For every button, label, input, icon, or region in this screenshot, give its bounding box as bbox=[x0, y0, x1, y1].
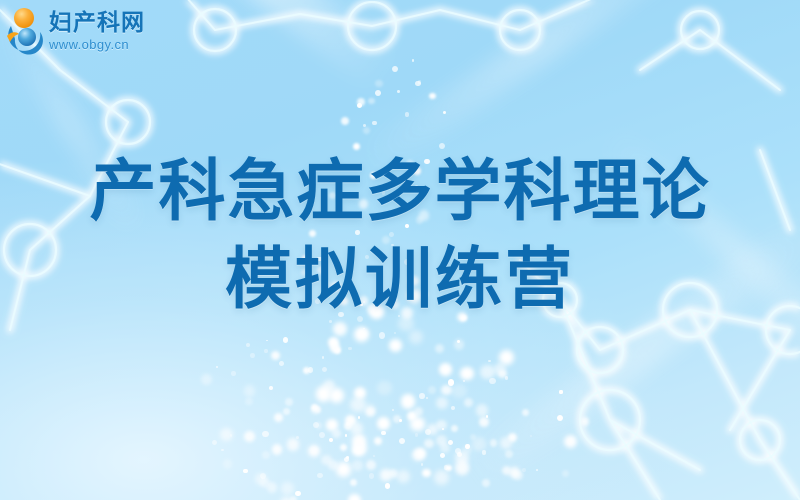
bokeh-dot bbox=[500, 437, 512, 449]
bokeh-dot bbox=[472, 437, 486, 451]
bokeh-dot bbox=[389, 469, 398, 478]
bokeh-dot bbox=[346, 422, 350, 426]
bokeh-dot bbox=[407, 411, 417, 421]
bokeh-dot bbox=[389, 339, 403, 353]
bokeh-dot bbox=[559, 390, 562, 393]
bokeh-dot bbox=[455, 451, 468, 464]
logo-wordmark: 妇产科网 www.obgy.cn bbox=[49, 11, 145, 51]
bokeh-dot bbox=[363, 124, 366, 127]
blue-sphere-icon bbox=[18, 28, 36, 46]
bokeh-dot bbox=[366, 407, 375, 416]
bokeh-dot bbox=[358, 328, 368, 338]
bokeh-dot bbox=[435, 344, 444, 353]
bokeh-dot bbox=[494, 363, 506, 375]
bokeh-dot bbox=[244, 385, 255, 396]
bokeh-dot bbox=[340, 444, 347, 451]
bokeh-dot bbox=[230, 434, 232, 436]
bokeh-dot bbox=[354, 387, 366, 399]
headline-line-1: 产科急症多学科理论 bbox=[0, 148, 800, 236]
bokeh-dot bbox=[508, 433, 517, 442]
bokeh-dot bbox=[397, 470, 410, 483]
bokeh-dot bbox=[440, 443, 450, 453]
light-streak bbox=[138, 0, 403, 93]
bokeh-dot bbox=[414, 407, 423, 416]
bokeh-dot bbox=[363, 127, 370, 134]
bokeh-dot bbox=[201, 374, 212, 385]
bokeh-dot bbox=[262, 431, 268, 437]
bokeh-dot bbox=[328, 460, 337, 469]
bokeh-dot bbox=[344, 457, 349, 462]
bokeh-dot bbox=[295, 491, 301, 497]
bokeh-dot bbox=[350, 397, 366, 413]
bokeh-dot bbox=[448, 379, 454, 385]
bokeh-dot bbox=[562, 470, 569, 477]
bokeh-dot bbox=[557, 415, 563, 421]
bokeh-dot bbox=[344, 422, 352, 430]
bokeh-dot bbox=[392, 409, 394, 411]
bokeh-dot bbox=[499, 350, 514, 365]
bokeh-dot bbox=[419, 393, 424, 398]
bokeh-dot bbox=[260, 473, 266, 479]
bokeh-dot bbox=[377, 417, 390, 430]
bokeh-dot bbox=[436, 397, 448, 409]
bokeh-dot bbox=[442, 428, 444, 430]
bokeh-dot bbox=[375, 80, 382, 87]
bokeh-dot bbox=[322, 367, 327, 372]
bokeh-dot bbox=[452, 384, 466, 398]
bokeh-dot bbox=[463, 445, 472, 454]
bokeh-dot bbox=[290, 496, 297, 500]
bokeh-dot bbox=[357, 98, 365, 106]
bokeh-dot bbox=[394, 332, 396, 334]
bokeh-dot bbox=[366, 460, 376, 470]
bokeh-dot bbox=[412, 449, 424, 461]
bokeh-dot bbox=[380, 469, 391, 480]
bokeh-dot bbox=[421, 463, 424, 466]
bokeh-dot bbox=[410, 417, 425, 432]
bokeh-dot bbox=[385, 483, 390, 488]
bokeh-dot bbox=[434, 470, 449, 485]
bokeh-dot bbox=[457, 463, 468, 474]
bokeh-dot bbox=[415, 81, 420, 86]
bokeh-dot bbox=[245, 398, 252, 405]
bokeh-dot bbox=[364, 404, 377, 417]
bokeh-dot bbox=[308, 445, 320, 457]
bokeh-dot bbox=[216, 366, 219, 369]
bokeh-dot bbox=[401, 394, 415, 408]
bokeh-dot bbox=[279, 361, 284, 366]
bokeh-dot bbox=[250, 353, 255, 358]
bokeh-dot bbox=[264, 349, 268, 353]
bokeh-dot bbox=[498, 370, 507, 379]
bokeh-dot bbox=[348, 347, 352, 351]
bokeh-dot bbox=[317, 473, 322, 478]
bokeh-dot bbox=[392, 66, 398, 72]
bokeh-dot bbox=[316, 386, 331, 401]
bokeh-dot bbox=[311, 406, 319, 414]
bokeh-dot bbox=[444, 465, 449, 470]
bokeh-dot bbox=[476, 404, 489, 417]
bokeh-dot bbox=[220, 428, 233, 441]
bokeh-dot bbox=[405, 112, 409, 116]
bokeh-dot bbox=[426, 397, 428, 399]
banner-headline: 产科急症多学科理论 模拟训练营 bbox=[0, 148, 800, 324]
bokeh-dot bbox=[509, 467, 521, 479]
bokeh-dot bbox=[308, 367, 313, 372]
bokeh-dot bbox=[221, 449, 224, 452]
bokeh-dot bbox=[272, 444, 282, 454]
bokeh-dot bbox=[345, 415, 356, 426]
bokeh-dot bbox=[441, 385, 451, 395]
bokeh-dot bbox=[440, 453, 445, 458]
bokeh-dot bbox=[313, 422, 319, 428]
bokeh-dot bbox=[311, 404, 318, 411]
bokeh-dot bbox=[480, 365, 494, 379]
bokeh-dot bbox=[502, 466, 511, 475]
bokeh-dot bbox=[372, 121, 377, 126]
logo-url: www.obgy.cn bbox=[49, 38, 145, 51]
bokeh-dot bbox=[460, 367, 473, 380]
bokeh-dot bbox=[283, 337, 289, 343]
bokeh-dot bbox=[358, 416, 361, 419]
bokeh-dot bbox=[231, 371, 236, 376]
bokeh-dot bbox=[379, 332, 385, 338]
bokeh-dot bbox=[281, 482, 294, 495]
bokeh-dot bbox=[260, 478, 270, 488]
logo-site-name: 妇产科网 bbox=[49, 11, 145, 34]
bokeh-dot bbox=[354, 442, 367, 455]
bokeh-dot bbox=[425, 429, 431, 435]
bokeh-dot bbox=[373, 455, 375, 457]
bokeh-dot bbox=[334, 347, 341, 354]
bokeh-dot bbox=[451, 406, 455, 410]
bokeh-dot bbox=[393, 415, 401, 423]
bokeh-dot bbox=[455, 460, 469, 474]
bokeh-dot bbox=[267, 482, 278, 493]
bokeh-dot bbox=[329, 438, 333, 442]
bokeh-dot bbox=[368, 98, 375, 105]
bokeh-dot bbox=[255, 473, 267, 485]
bokeh-dot bbox=[285, 398, 293, 406]
orange-sphere-icon bbox=[14, 8, 34, 28]
bokeh-dot bbox=[505, 376, 508, 379]
bokeh-dot bbox=[381, 431, 385, 435]
bokeh-dot bbox=[463, 380, 465, 382]
bokeh-dot bbox=[412, 59, 415, 62]
bokeh-dot bbox=[479, 417, 489, 427]
bokeh-dot bbox=[536, 469, 538, 471]
headline-line-2: 模拟训练营 bbox=[0, 236, 800, 324]
bokeh-dot bbox=[482, 450, 487, 455]
bokeh-dot bbox=[336, 462, 351, 477]
bokeh-dot bbox=[464, 398, 473, 407]
bokeh-dot bbox=[354, 327, 369, 342]
bokeh-dot bbox=[328, 337, 339, 348]
bokeh-dot bbox=[448, 440, 453, 445]
bokeh-dot bbox=[457, 452, 462, 457]
bokeh-dot bbox=[455, 448, 461, 454]
bokeh-dot bbox=[303, 367, 310, 374]
bokeh-dot bbox=[375, 90, 381, 96]
bokeh-dot bbox=[269, 386, 273, 390]
bokeh-dot bbox=[350, 422, 363, 435]
bokeh-dot bbox=[409, 330, 424, 345]
bokeh-dot bbox=[457, 340, 460, 343]
bokeh-dot bbox=[212, 440, 217, 445]
bokeh-dot bbox=[522, 409, 529, 416]
bokeh-dot bbox=[310, 446, 318, 454]
bokeh-dot bbox=[274, 413, 283, 422]
bokeh-dot bbox=[341, 117, 349, 125]
bokeh-dot bbox=[296, 436, 299, 439]
bokeh-dot bbox=[350, 479, 357, 486]
bokeh-dot bbox=[333, 322, 347, 336]
bokeh-dot bbox=[345, 434, 347, 436]
bokeh-dot bbox=[399, 419, 402, 422]
bokeh-dot bbox=[418, 80, 422, 84]
bokeh-dot bbox=[581, 417, 589, 425]
bokeh-dot bbox=[488, 360, 490, 362]
bokeh-dot bbox=[357, 103, 362, 108]
bokeh-dot bbox=[374, 437, 383, 446]
bokeh-dot bbox=[315, 422, 322, 429]
bokeh-dot bbox=[330, 343, 340, 353]
bokeh-dot bbox=[223, 459, 233, 469]
bokeh-dot bbox=[415, 433, 419, 437]
bokeh-dot bbox=[522, 468, 526, 472]
bokeh-dot bbox=[326, 419, 338, 431]
bokeh-dot bbox=[352, 434, 366, 448]
bokeh-dot bbox=[490, 439, 498, 447]
bokeh-dot bbox=[424, 439, 434, 449]
bokeh-dot bbox=[321, 455, 331, 465]
bokeh-dot bbox=[564, 435, 577, 448]
bokeh-dot bbox=[323, 380, 335, 392]
bokeh-dot bbox=[428, 386, 436, 394]
bokeh-dot bbox=[415, 448, 426, 459]
bokeh-dot bbox=[439, 363, 452, 376]
bokeh-dot bbox=[422, 469, 431, 478]
bokeh-dot bbox=[443, 111, 446, 114]
bokeh-dot bbox=[482, 479, 490, 487]
bokeh-dot bbox=[315, 406, 322, 413]
bokeh-dot bbox=[489, 378, 495, 384]
bokeh-dot bbox=[429, 93, 436, 100]
bokeh-dot bbox=[505, 450, 513, 458]
bokeh-dot bbox=[266, 340, 268, 342]
event-banner: 妇产科网 www.obgy.cn 产科急症多学科理论 模拟训练营 bbox=[0, 0, 800, 500]
bokeh-dot bbox=[346, 456, 349, 459]
bokeh-dot bbox=[322, 356, 325, 359]
bokeh-dot bbox=[377, 381, 392, 396]
bokeh-dot bbox=[319, 432, 325, 438]
logo-mark-icon bbox=[4, 6, 48, 56]
bokeh-dot bbox=[436, 435, 446, 445]
bokeh-dot bbox=[465, 444, 470, 449]
bokeh-dot bbox=[363, 328, 365, 330]
bokeh-dot bbox=[397, 90, 400, 93]
bokeh-dot bbox=[451, 425, 458, 432]
bokeh-dot bbox=[348, 494, 360, 500]
bokeh-dot bbox=[352, 444, 364, 456]
bokeh-dot bbox=[486, 415, 489, 418]
bokeh-dot bbox=[329, 388, 344, 403]
bokeh-dot bbox=[287, 438, 299, 450]
bokeh-dot bbox=[513, 471, 523, 481]
bokeh-dot bbox=[244, 431, 255, 442]
bokeh-dot bbox=[436, 420, 446, 430]
bokeh-dot bbox=[445, 465, 452, 472]
bokeh-dot bbox=[271, 351, 281, 361]
bokeh-dot bbox=[427, 424, 438, 435]
site-logo[interactable]: 妇产科网 www.obgy.cn bbox=[4, 6, 145, 56]
bokeh-dot bbox=[246, 343, 251, 348]
bokeh-dot bbox=[262, 451, 270, 459]
bokeh-dot bbox=[352, 460, 363, 471]
bokeh-dot bbox=[454, 339, 464, 349]
bokeh-dot bbox=[369, 473, 375, 479]
bokeh-dot bbox=[332, 429, 341, 438]
bokeh-dot bbox=[530, 435, 532, 437]
bokeh-dot bbox=[283, 408, 289, 414]
bokeh-dot bbox=[243, 469, 248, 474]
bokeh-dot bbox=[399, 438, 405, 444]
bokeh-dot bbox=[470, 434, 476, 440]
